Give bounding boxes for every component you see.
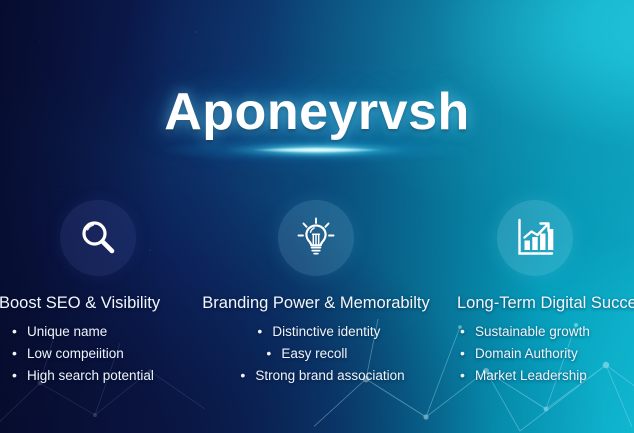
list-item: Market Leadership [458, 368, 634, 383]
list-item: Sustainable growth [458, 324, 634, 339]
title-flare-core [251, 148, 383, 153]
bar-chart-growth-icon-badge [497, 200, 573, 276]
magnifier-icon [77, 217, 119, 259]
feature-columns: Boost SEO & Visibility Unique name Low c… [0, 200, 634, 390]
feature-column-seo: Boost SEO & Visibility Unique name Low c… [0, 200, 196, 390]
lightbulb-icon-badge [278, 200, 354, 276]
feature-bullets-longterm: Sustainable growth Domain Authority Mark… [458, 324, 634, 383]
feature-bullets-branding-wrap: Distinctive identity Easy recoll Strong … [196, 313, 436, 390]
list-item: High search potential [10, 368, 196, 383]
list-item: Domain Authority [458, 346, 634, 361]
magnifier-icon-badge [60, 200, 136, 276]
feature-heading-longterm: Long-Term Digital Succe [457, 294, 634, 313]
brand-wordmark-container: Aponeyrvsh [0, 86, 634, 138]
list-item: Distinctive identity [255, 324, 404, 339]
promo-slide: Aponeyrvsh Boost SEO & Visibility Unique… [0, 0, 634, 433]
list-item: Low compeiition [10, 346, 196, 361]
feature-column-longterm: Long-Term Digital Succe Sustainable grow… [436, 200, 634, 390]
lightbulb-icon [294, 216, 338, 260]
feature-heading-branding: Branding Power & Memorabilty [196, 294, 436, 313]
list-item: Unique name [10, 324, 196, 339]
bar-chart-growth-icon [513, 216, 557, 260]
list-item: Strong brand association [238, 368, 404, 383]
feature-heading-seo: Boost SEO & Visibility [0, 294, 196, 313]
feature-bullets-branding: Distinctive identity Easy recoll Strong … [238, 324, 404, 390]
feature-column-branding: Branding Power & Memorabilty Distinctive… [196, 200, 436, 390]
brand-wordmark: Aponeyrvsh [164, 86, 470, 138]
feature-bullets-seo: Unique name Low compeiition High search … [10, 324, 196, 383]
list-item: Easy recoll [264, 346, 404, 361]
